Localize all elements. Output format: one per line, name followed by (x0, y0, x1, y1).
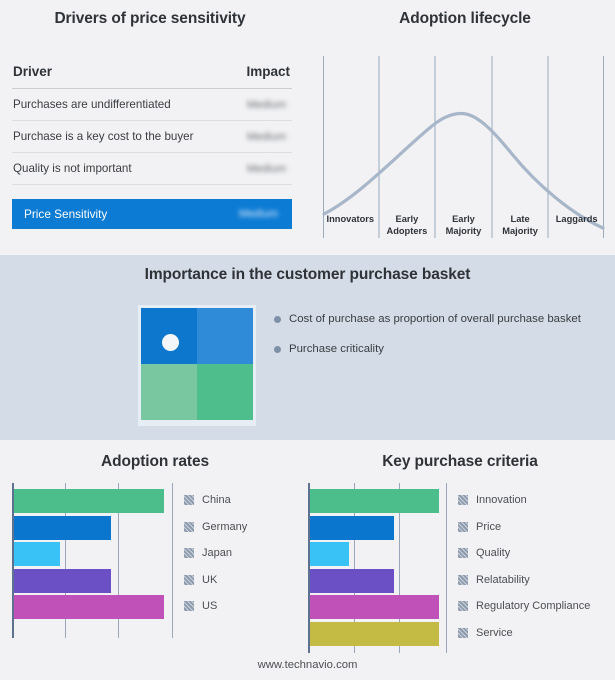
criteria-legend: InnovationPriceQualityRelatabilityRegula… (458, 487, 590, 646)
bar[interactable] (14, 595, 164, 619)
column-header-impact: Impact (246, 64, 292, 79)
driver-impact-value: Medium (247, 131, 292, 143)
legend-swatch-icon (458, 548, 468, 558)
drivers-table: Driver Impact Purchases are undifferenti… (12, 64, 292, 229)
footer-url[interactable]: www.technavio.com (0, 659, 615, 671)
matrix-quadrant-top-right[interactable] (197, 308, 253, 364)
driver-name: Purchase is a key cost to the buyer (12, 130, 193, 143)
table-row-highlighted[interactable]: Price Sensitivity Medium (12, 199, 292, 229)
key-purchase-criteria-title: Key purchase criteria (305, 453, 615, 471)
legend-item[interactable]: UK (184, 567, 247, 594)
legend-label: Regulatory Compliance (476, 600, 590, 612)
segment-line2: Innovators (322, 214, 379, 226)
lifecycle-segment-laggards: Laggards (548, 214, 605, 238)
legend-swatch-icon (458, 601, 468, 611)
legend-label: UK (202, 574, 217, 586)
adoption-lifecycle-chart: Innovators Early Adopters Early Majority… (322, 56, 605, 238)
column-header-driver: Driver (12, 64, 52, 79)
legend-label: Service (476, 627, 513, 639)
segment-line2: Laggards (548, 214, 605, 226)
lifecycle-dividers (324, 56, 604, 238)
bar[interactable] (310, 542, 349, 566)
bar[interactable] (310, 622, 439, 646)
lifecycle-segment-innovators: Innovators (322, 214, 379, 238)
legend-label: China (202, 494, 231, 506)
legend-swatch-icon (458, 522, 468, 532)
bar[interactable] (310, 595, 439, 619)
legend-label: US (202, 600, 217, 612)
infographic-root: Drivers of price sensitivity Driver Impa… (0, 0, 615, 680)
driver-impact-value: Medium (247, 163, 292, 175)
legend-swatch-icon (458, 628, 468, 638)
list-item: Cost of purchase as proportion of overal… (274, 312, 594, 327)
adoption-rates-plot (12, 483, 172, 638)
table-row[interactable]: Purchases are undifferentiated Medium (12, 89, 292, 121)
legend-swatch-icon (458, 575, 468, 585)
driver-name-highlighted: Price Sensitivity (24, 207, 107, 221)
legend-item[interactable]: Relatability (458, 567, 590, 594)
segment-line2: Adopters (379, 226, 436, 238)
segment-line1: Early (379, 214, 436, 226)
bar[interactable] (14, 516, 111, 540)
legend-swatch-icon (184, 548, 194, 558)
matrix-quadrant-bottom-left[interactable] (141, 364, 197, 420)
legend-item[interactable]: Service (458, 620, 590, 647)
lifecycle-segment-labels: Innovators Early Adopters Early Majority… (322, 214, 605, 238)
table-row[interactable]: Purchase is a key cost to the buyer Medi… (12, 121, 292, 153)
matrix-legend: Cost of purchase as proportion of overal… (274, 312, 594, 371)
driver-name: Quality is not important (12, 162, 132, 175)
bar[interactable] (14, 489, 164, 513)
driver-impact-value: Medium (247, 99, 292, 111)
bar[interactable] (310, 489, 439, 513)
legend-swatch-icon (184, 575, 194, 585)
matrix-legend-label: Purchase criticality (289, 342, 384, 357)
adoption-rates-title: Adoption rates (0, 453, 310, 471)
legend-label: Price (476, 521, 501, 533)
legend-item[interactable]: Price (458, 514, 590, 541)
matrix-position-marker (162, 334, 179, 351)
matrix-legend-label: Cost of purchase as proportion of overal… (289, 312, 581, 327)
list-item: Purchase criticality (274, 342, 594, 357)
legend-swatch-icon (184, 495, 194, 505)
lifecycle-segment-early-adopters: Early Adopters (379, 214, 436, 238)
legend-label: Relatability (476, 574, 530, 586)
legend-item[interactable]: Regulatory Compliance (458, 593, 590, 620)
legend-swatch-icon (184, 601, 194, 611)
drivers-panel-title: Drivers of price sensitivity (0, 10, 300, 28)
bullet-icon (274, 346, 281, 353)
legend-swatch-icon (458, 495, 468, 505)
lifecycle-curve-svg (322, 56, 605, 238)
criteria-plot (308, 483, 446, 653)
bar[interactable] (310, 516, 394, 540)
legend-item[interactable]: Germany (184, 514, 247, 541)
legend-label: Innovation (476, 494, 527, 506)
bell-curve-path (324, 114, 603, 229)
segment-line1: Early (435, 214, 492, 226)
drivers-table-header: Driver Impact (12, 64, 292, 89)
lifecycle-panel-title: Adoption lifecycle (315, 10, 615, 28)
legend-label: Germany (202, 521, 247, 533)
adoption-rates-chart: ChinaGermanyJapanUKUS (12, 483, 302, 638)
legend-item[interactable]: US (184, 593, 247, 620)
legend-label: Japan (202, 547, 232, 559)
adoption-rates-legend: ChinaGermanyJapanUKUS (184, 487, 247, 620)
legend-swatch-icon (184, 522, 194, 532)
legend-item[interactable]: China (184, 487, 247, 514)
gridline (172, 483, 173, 638)
importance-panel-title: Importance in the customer purchase bask… (0, 266, 615, 284)
bar[interactable] (14, 569, 111, 593)
segment-line2: Majority (492, 226, 549, 238)
matrix-quadrant-bottom-right[interactable] (197, 364, 253, 420)
legend-item[interactable]: Innovation (458, 487, 590, 514)
legend-item[interactable]: Japan (184, 540, 247, 567)
legend-label: Quality (476, 547, 510, 559)
driver-name: Purchases are undifferentiated (12, 98, 171, 111)
matrix-grid (141, 308, 253, 420)
legend-item[interactable]: Quality (458, 540, 590, 567)
bar[interactable] (310, 569, 394, 593)
lifecycle-segment-late-majority: Late Majority (492, 214, 549, 238)
lifecycle-segment-early-majority: Early Majority (435, 214, 492, 238)
gridline (446, 483, 447, 653)
bullet-icon (274, 316, 281, 323)
bar[interactable] (14, 542, 60, 566)
segment-line2: Majority (435, 226, 492, 238)
driver-impact-value-highlighted: Medium (239, 208, 284, 220)
segment-line1: Late (492, 214, 549, 226)
purchase-basket-matrix (138, 305, 256, 426)
key-purchase-criteria-chart: InnovationPriceQualityRelatabilityRegula… (308, 483, 608, 653)
table-row[interactable]: Quality is not important Medium (12, 153, 292, 185)
